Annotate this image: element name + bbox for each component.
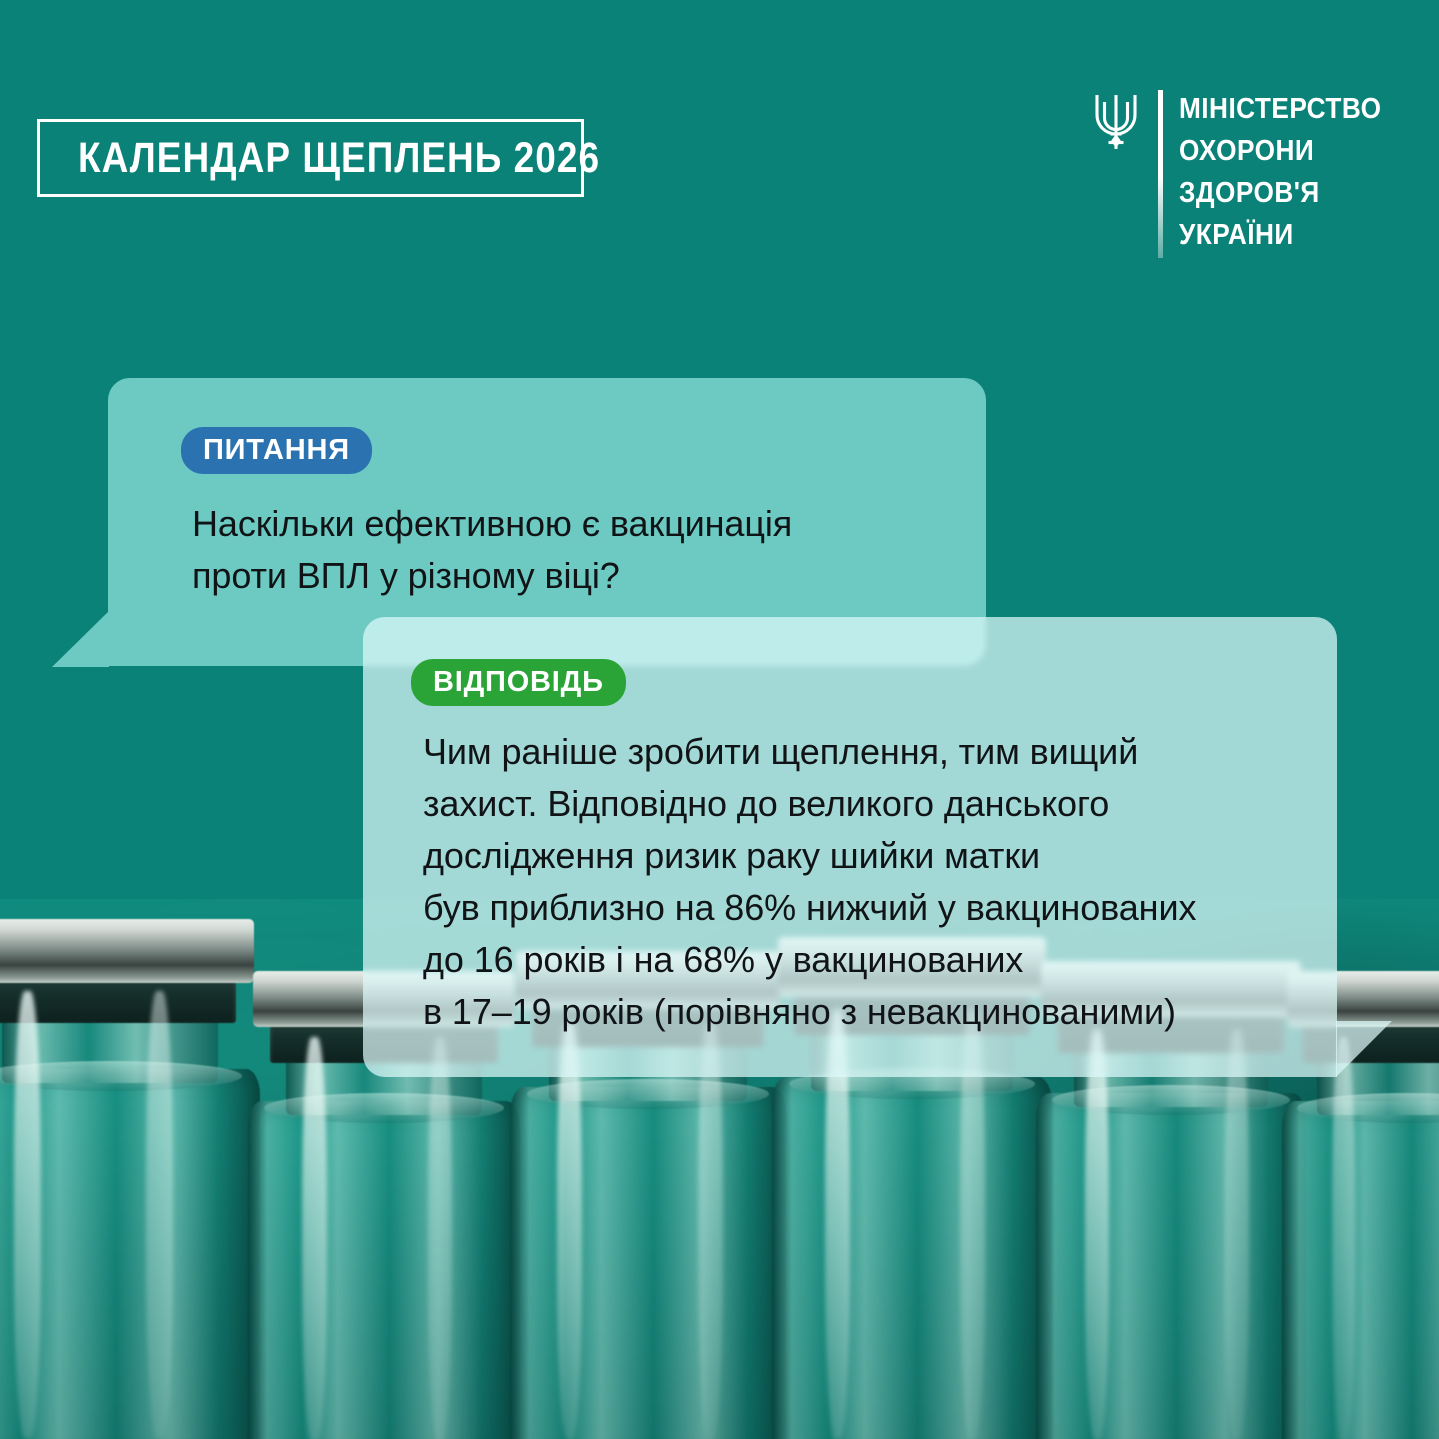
logo-line-2: ОХОРОНИ <box>1179 130 1381 172</box>
answer-bubble-tail <box>1336 1021 1392 1077</box>
answer-badge: ВІДПОВІДЬ <box>411 659 626 706</box>
ministry-logo-text: МІНІСТЕРСТВО ОХОРОНИ ЗДОРОВ'Я УКРАЇНИ <box>1179 88 1381 256</box>
vial <box>0 949 260 1439</box>
question-badge: ПИТАННЯ <box>181 427 372 474</box>
ministry-logo: МІНІСТЕРСТВО ОХОРОНИ ЗДОРОВ'Я УКРАЇНИ <box>1090 88 1399 258</box>
logo-line-3: ЗДОРОВ'Я <box>1179 172 1381 214</box>
poster-title-box: КАЛЕНДАР ЩЕПЛЕНЬ 2026 <box>37 119 584 197</box>
logo-line-1: МІНІСТЕРСТВО <box>1179 88 1381 130</box>
question-bubble-tail <box>52 611 109 667</box>
ukraine-trident-icon <box>1090 88 1142 156</box>
logo-divider <box>1158 90 1163 258</box>
page-title: КАЛЕНДАР ЩЕПЛЕНЬ 2026 <box>78 134 600 183</box>
question-text: Наскільки ефективною є вакцинація проти … <box>192 498 952 602</box>
answer-text: Чим раніше зробити щеплення, тим вищий з… <box>423 726 1323 1038</box>
logo-line-4: УКРАЇНИ <box>1179 214 1381 256</box>
infographic-poster: КАЛЕНДАР ЩЕПЛЕНЬ 2026 МІНІСТЕРСТВО ОХОРО… <box>0 0 1439 1439</box>
